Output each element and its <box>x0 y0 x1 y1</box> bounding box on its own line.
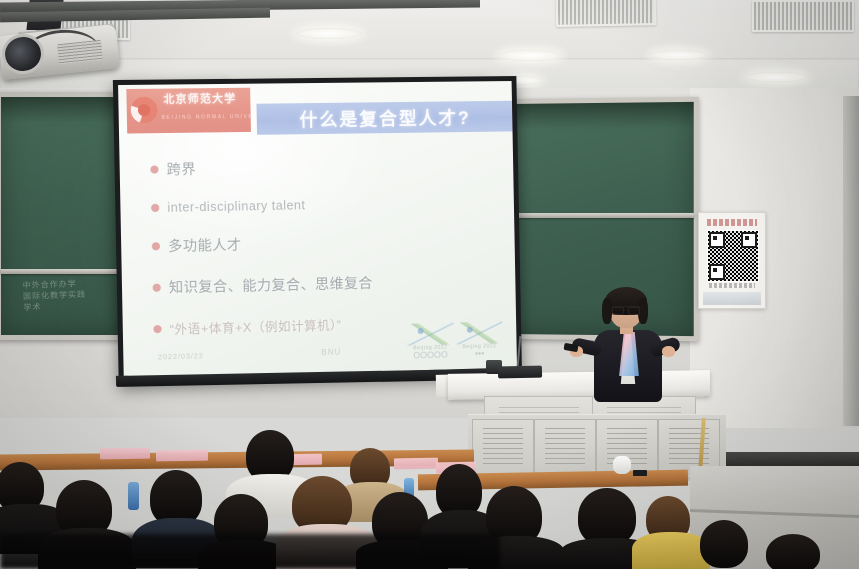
poster-header-text <box>707 219 757 226</box>
blackboard-left: 中外合作办学 国际化教学实践 学术 <box>0 92 132 340</box>
bullet-dot-icon <box>150 165 158 173</box>
phone-item <box>633 470 647 476</box>
handout-paper <box>100 448 150 460</box>
bullet-text: 知识复合、能力复合、思维复合 <box>169 273 373 298</box>
bullet-dot-icon <box>153 284 161 292</box>
bullet-text: inter-disciplinary talent <box>167 198 305 215</box>
speaker-presenter <box>574 288 684 406</box>
olympic-rings-icon: OOOOO <box>407 350 454 360</box>
projection-screen: 北京师范大学 BEIJING NORMAL UNIVERSITY 什么是复合型人… <box>113 76 522 384</box>
tissue-item <box>613 456 631 474</box>
poster-caption-text <box>709 283 755 288</box>
paralympic-emblem: Beijing 2022 ••• <box>455 321 503 359</box>
handout-paper <box>156 450 208 462</box>
bullet-text: “外语+体育+X（例如计算机）” <box>170 314 342 337</box>
olympic-emblem: Beijing 2022 OOOOO <box>406 323 454 361</box>
board-shadow <box>498 102 694 130</box>
foreground-shadow <box>0 534 500 569</box>
chalk-writing: 中外合作办学 国际化教学实践 学术 <box>22 278 86 313</box>
audience-shoulders <box>632 532 710 569</box>
paralympic-figure-icon <box>455 321 502 344</box>
handout-paper <box>394 458 438 470</box>
lecture-hall-photo: 中外合作办学 国际化教学实践 学术 北京师范大学 BEIJING NORMAL … <box>0 0 859 569</box>
poster-footer-image <box>703 292 761 305</box>
downlight-icon <box>498 50 562 61</box>
board-shadow <box>1 97 127 123</box>
bullet-dot-icon <box>153 324 161 332</box>
locker <box>472 419 534 479</box>
bullet-text: 多功能人才 <box>168 235 242 257</box>
downlight-icon <box>650 50 708 60</box>
list-item: inter-disciplinary talent <box>151 195 481 215</box>
water-bottle <box>128 482 139 510</box>
qr-code-icon <box>707 230 759 282</box>
slide-footer-date: 2022/03/22 <box>158 353 204 361</box>
university-name-cn: 北京师范大学 <box>163 90 236 107</box>
qr-finder-icon <box>741 232 757 248</box>
bullet-dot-icon <box>152 242 160 250</box>
list-item: 知识复合、能力复合、思维复合 <box>152 270 482 297</box>
bnu-logo-icon <box>131 97 158 124</box>
presentation-slide: 北京师范大学 BEIJING NORMAL UNIVERSITY 什么是复合型人… <box>118 81 517 379</box>
wall-corner <box>843 96 859 426</box>
list-item: 跨界 <box>150 155 480 180</box>
bullet-dot-icon <box>151 204 159 212</box>
downlight-icon <box>746 72 808 82</box>
chalk-rail <box>498 213 694 218</box>
speaker-right-hand <box>662 346 675 357</box>
air-vent-icon <box>556 0 657 27</box>
list-item: 多功能人才 <box>152 230 482 257</box>
locker <box>534 419 596 479</box>
slide-title-band: 什么是复合型人才? <box>256 101 512 135</box>
downlight-icon <box>296 28 362 39</box>
audience-head <box>700 520 748 568</box>
chalk-rail <box>1 269 127 274</box>
qr-code-poster <box>698 212 766 309</box>
glasses-icon <box>612 306 640 313</box>
audience-head <box>766 534 820 569</box>
paralympic-agitos-icon: ••• <box>456 349 503 359</box>
speaker-hair-side <box>602 298 612 324</box>
bullet-text: 跨界 <box>166 159 196 180</box>
qr-finder-icon <box>709 232 725 248</box>
slide-title: 什么是复合型人才? <box>299 104 471 132</box>
podium-keyboard <box>498 366 542 379</box>
slide-footer-label: BNU <box>321 347 341 357</box>
air-vent-icon <box>752 0 854 32</box>
qr-finder-icon <box>709 264 725 280</box>
olympic-figure-icon <box>406 323 454 346</box>
